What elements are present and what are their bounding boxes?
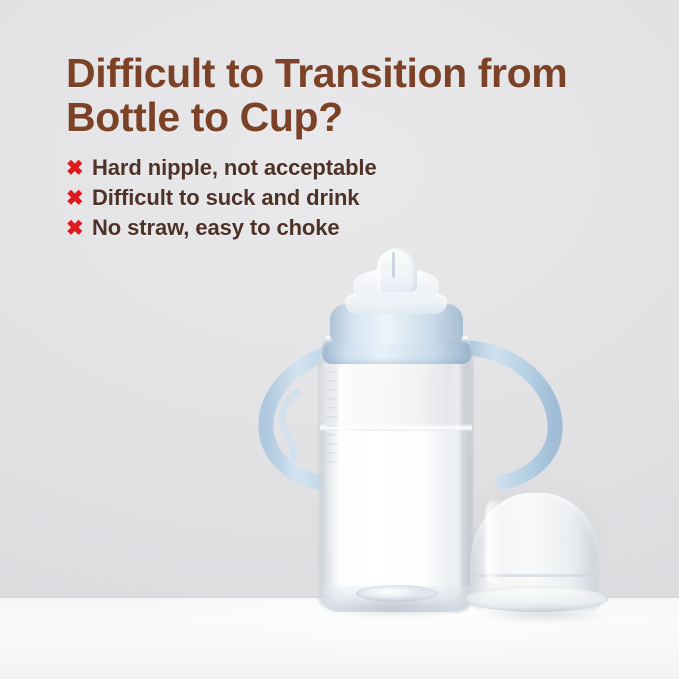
bottle-highlight-right xyxy=(448,360,460,598)
spout-slit xyxy=(392,252,395,278)
bottle-highlight-left xyxy=(338,358,364,602)
measurement-scale xyxy=(326,362,338,467)
silicone-spout xyxy=(377,248,417,292)
cap-contact-shadow xyxy=(452,604,637,626)
product-photo xyxy=(0,0,679,679)
cap-highlight xyxy=(486,500,504,584)
product-feature-image: Difficult to Transition from Bottle to C… xyxy=(0,0,679,679)
